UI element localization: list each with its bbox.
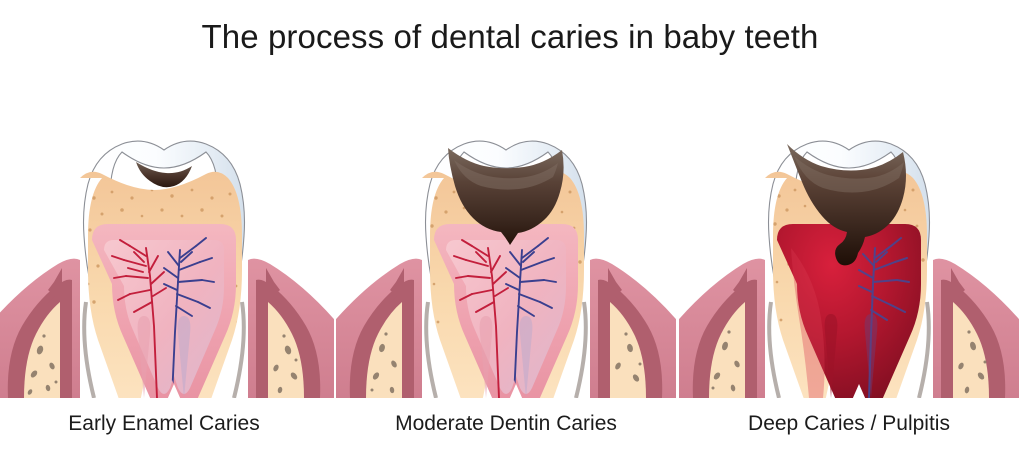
gingiva-and-bone-right bbox=[933, 259, 1019, 398]
figure-canvas: The process of dental caries in baby tee… bbox=[0, 0, 1020, 474]
gingiva-and-bone-left bbox=[679, 259, 765, 398]
figure-title: The process of dental caries in baby tee… bbox=[0, 18, 1020, 56]
caption-deep-caries-pulpitis: Deep Caries / Pulpitis bbox=[679, 412, 1019, 436]
gingiva-and-bone-left bbox=[336, 259, 422, 398]
gingiva-and-bone-left bbox=[0, 259, 80, 398]
caption-moderate-dentin-caries: Moderate Dentin Caries bbox=[336, 412, 676, 436]
tooth-illustration-deep-caries-pulpitis bbox=[679, 126, 1019, 398]
tooth-illustration-moderate-dentin-caries bbox=[336, 126, 676, 398]
tooth-illustration-early-enamel-caries bbox=[0, 126, 334, 398]
caption-early-enamel-caries: Early Enamel Caries bbox=[0, 412, 334, 436]
gingiva-and-bone-right bbox=[590, 259, 676, 398]
gingiva-and-bone-right bbox=[248, 259, 334, 398]
